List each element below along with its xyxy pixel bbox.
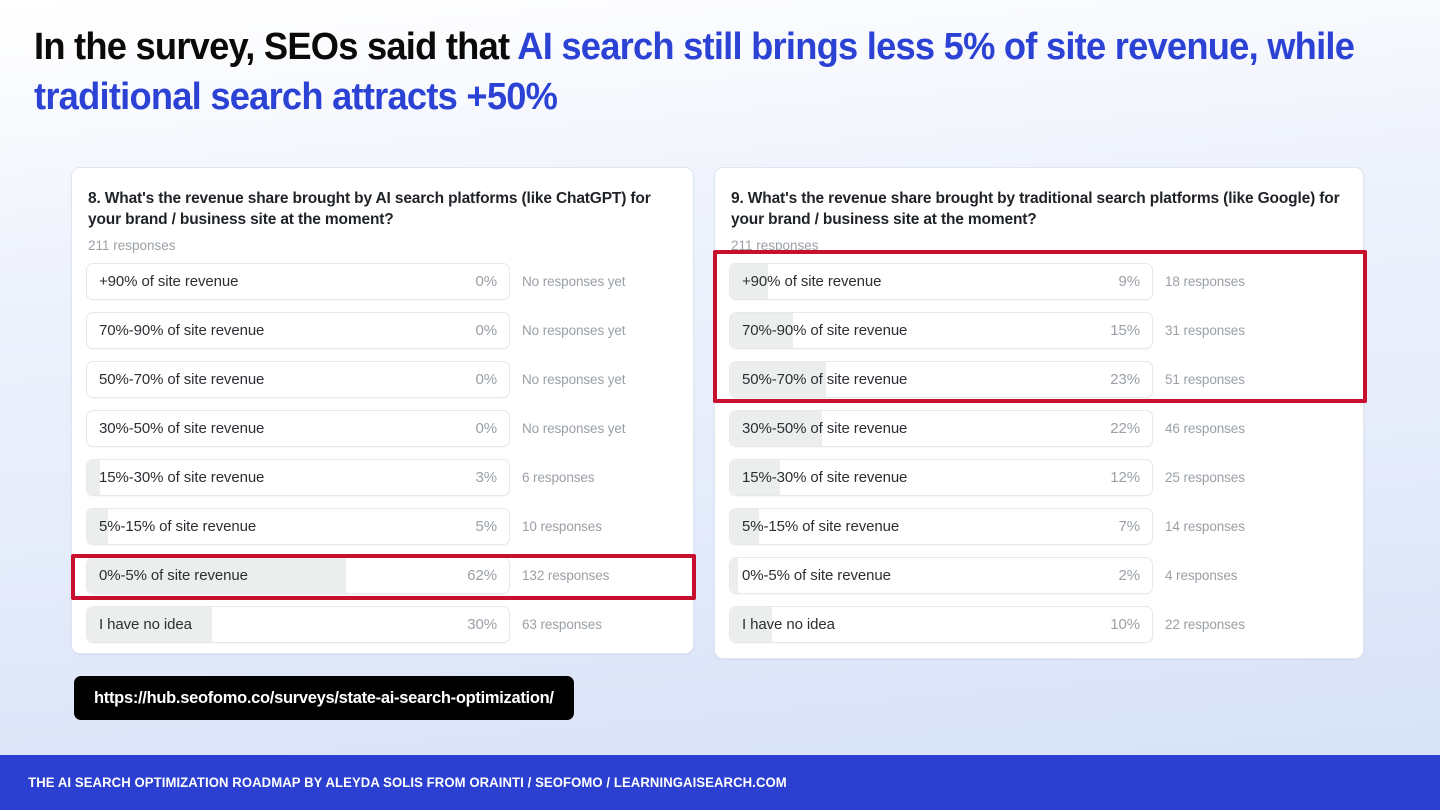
- survey-row-response-note: 10 responses: [510, 519, 602, 534]
- survey-bar-percent: 22%: [1110, 420, 1152, 437]
- survey-bar: 5%-15% of site revenue7%: [729, 508, 1153, 545]
- question-9-title: 9. What's the revenue share brought by t…: [729, 188, 1349, 230]
- survey-row: 30%-50% of site revenue0%No responses ye…: [86, 410, 679, 447]
- survey-bar-percent: 12%: [1110, 469, 1152, 486]
- survey-bar: 70%-90% of site revenue0%: [86, 312, 510, 349]
- survey-bar-label: 70%-90% of site revenue: [87, 322, 264, 339]
- survey-row: 70%-90% of site revenue15%31 responses: [729, 312, 1349, 349]
- footer-bar: THE AI SEARCH OPTIMIZATION ROADMAP BY AL…: [0, 755, 1440, 810]
- survey-row: 5%-15% of site revenue5%10 responses: [86, 508, 679, 545]
- page-title: In the survey, SEOs said that AI search …: [34, 22, 1361, 122]
- question-8-response-count: 211 responses: [86, 238, 679, 253]
- survey-row-response-note: 6 responses: [510, 470, 594, 485]
- headline-black-text: In the survey, SEOs said that: [34, 26, 517, 68]
- survey-row-response-note: No responses yet: [510, 274, 625, 289]
- question-9-rows: +90% of site revenue9%18 responses70%-90…: [729, 263, 1349, 643]
- survey-row-response-note: 63 responses: [510, 617, 602, 632]
- survey-row-response-note: 46 responses: [1153, 421, 1245, 436]
- survey-bar-label: 5%-15% of site revenue: [87, 518, 256, 535]
- survey-row-response-note: 132 responses: [510, 568, 609, 583]
- survey-bar: 0%-5% of site revenue2%: [729, 557, 1153, 594]
- survey-bar-percent: 0%: [476, 322, 509, 339]
- survey-row: I have no idea10%22 responses: [729, 606, 1349, 643]
- survey-row: 50%-70% of site revenue23%51 responses: [729, 361, 1349, 398]
- survey-bar-label: 15%-30% of site revenue: [87, 469, 264, 486]
- survey-row-response-note: No responses yet: [510, 372, 625, 387]
- survey-row-response-note: 18 responses: [1153, 274, 1245, 289]
- survey-bar-percent: 62%: [467, 567, 509, 584]
- survey-bar-percent: 5%: [476, 518, 509, 535]
- survey-bar-percent: 9%: [1119, 273, 1152, 290]
- survey-card-question-8: 8. What's the revenue share brought by A…: [71, 167, 694, 654]
- survey-row-response-note: No responses yet: [510, 421, 625, 436]
- survey-bar-label: 30%-50% of site revenue: [87, 420, 264, 437]
- survey-row: 0%-5% of site revenue62%132 responses: [86, 557, 679, 594]
- question-8-title: 8. What's the revenue share brought by A…: [86, 188, 679, 230]
- survey-bar-label: 0%-5% of site revenue: [730, 567, 891, 584]
- survey-bar-label: +90% of site revenue: [87, 273, 238, 290]
- survey-bar: 50%-70% of site revenue0%: [86, 361, 510, 398]
- survey-row-response-note: 22 responses: [1153, 617, 1245, 632]
- survey-row: I have no idea30%63 responses: [86, 606, 679, 643]
- survey-row: 15%-30% of site revenue12%25 responses: [729, 459, 1349, 496]
- survey-bar-percent: 0%: [476, 371, 509, 388]
- source-url-text: https://hub.seofomo.co/surveys/state-ai-…: [94, 689, 554, 708]
- survey-bar-label: 70%-90% of site revenue: [730, 322, 907, 339]
- survey-bar: 5%-15% of site revenue5%: [86, 508, 510, 545]
- survey-row: +90% of site revenue9%18 responses: [729, 263, 1349, 300]
- survey-bar-percent: 23%: [1110, 371, 1152, 388]
- survey-bar: +90% of site revenue9%: [729, 263, 1153, 300]
- survey-bar: I have no idea10%: [729, 606, 1153, 643]
- survey-bar: +90% of site revenue0%: [86, 263, 510, 300]
- survey-row-response-note: 25 responses: [1153, 470, 1245, 485]
- survey-bar-percent: 15%: [1110, 322, 1152, 339]
- survey-bar-label: +90% of site revenue: [730, 273, 881, 290]
- survey-bar: 70%-90% of site revenue15%: [729, 312, 1153, 349]
- survey-row-response-note: 31 responses: [1153, 323, 1245, 338]
- survey-bar-percent: 3%: [476, 469, 509, 486]
- survey-bar-label: 15%-30% of site revenue: [730, 469, 907, 486]
- survey-bar: 50%-70% of site revenue23%: [729, 361, 1153, 398]
- survey-bar-percent: 0%: [476, 420, 509, 437]
- survey-bar-label: I have no idea: [87, 616, 192, 633]
- question-9-response-count: 211 responses: [729, 238, 1349, 253]
- survey-bar: 15%-30% of site revenue3%: [86, 459, 510, 496]
- survey-row-response-note: 4 responses: [1153, 568, 1237, 583]
- survey-bar-label: 50%-70% of site revenue: [730, 371, 907, 388]
- source-url-pill[interactable]: https://hub.seofomo.co/surveys/state-ai-…: [74, 676, 574, 720]
- survey-card-question-9: 9. What's the revenue share brought by t…: [714, 167, 1364, 659]
- question-8-rows: +90% of site revenue0%No responses yet70…: [86, 263, 679, 643]
- footer-credit-text: THE AI SEARCH OPTIMIZATION ROADMAP BY AL…: [0, 775, 787, 790]
- survey-bar: 30%-50% of site revenue22%: [729, 410, 1153, 447]
- survey-row: 0%-5% of site revenue2%4 responses: [729, 557, 1349, 594]
- survey-bar-percent: 7%: [1119, 518, 1152, 535]
- survey-row: 70%-90% of site revenue0%No responses ye…: [86, 312, 679, 349]
- survey-bar: 15%-30% of site revenue12%: [729, 459, 1153, 496]
- survey-bar: 30%-50% of site revenue0%: [86, 410, 510, 447]
- survey-row: 50%-70% of site revenue0%No responses ye…: [86, 361, 679, 398]
- survey-bar-label: 50%-70% of site revenue: [87, 371, 264, 388]
- survey-bar-label: 0%-5% of site revenue: [87, 567, 248, 584]
- survey-row: 5%-15% of site revenue7%14 responses: [729, 508, 1349, 545]
- survey-row: 15%-30% of site revenue3%6 responses: [86, 459, 679, 496]
- survey-cards-container: 8. What's the revenue share brought by A…: [71, 167, 1364, 659]
- survey-bar-percent: 0%: [476, 273, 509, 290]
- survey-bar-percent: 2%: [1119, 567, 1152, 584]
- survey-row-response-note: No responses yet: [510, 323, 625, 338]
- survey-row-response-note: 14 responses: [1153, 519, 1245, 534]
- survey-bar-percent: 30%: [467, 616, 509, 633]
- survey-row-response-note: 51 responses: [1153, 372, 1245, 387]
- survey-bar: 0%-5% of site revenue62%: [86, 557, 510, 594]
- survey-row: +90% of site revenue0%No responses yet: [86, 263, 679, 300]
- survey-row: 30%-50% of site revenue22%46 responses: [729, 410, 1349, 447]
- survey-bar-percent: 10%: [1110, 616, 1152, 633]
- survey-bar-label: I have no idea: [730, 616, 835, 633]
- survey-bar-label: 5%-15% of site revenue: [730, 518, 899, 535]
- survey-bar-label: 30%-50% of site revenue: [730, 420, 907, 437]
- survey-bar: I have no idea30%: [86, 606, 510, 643]
